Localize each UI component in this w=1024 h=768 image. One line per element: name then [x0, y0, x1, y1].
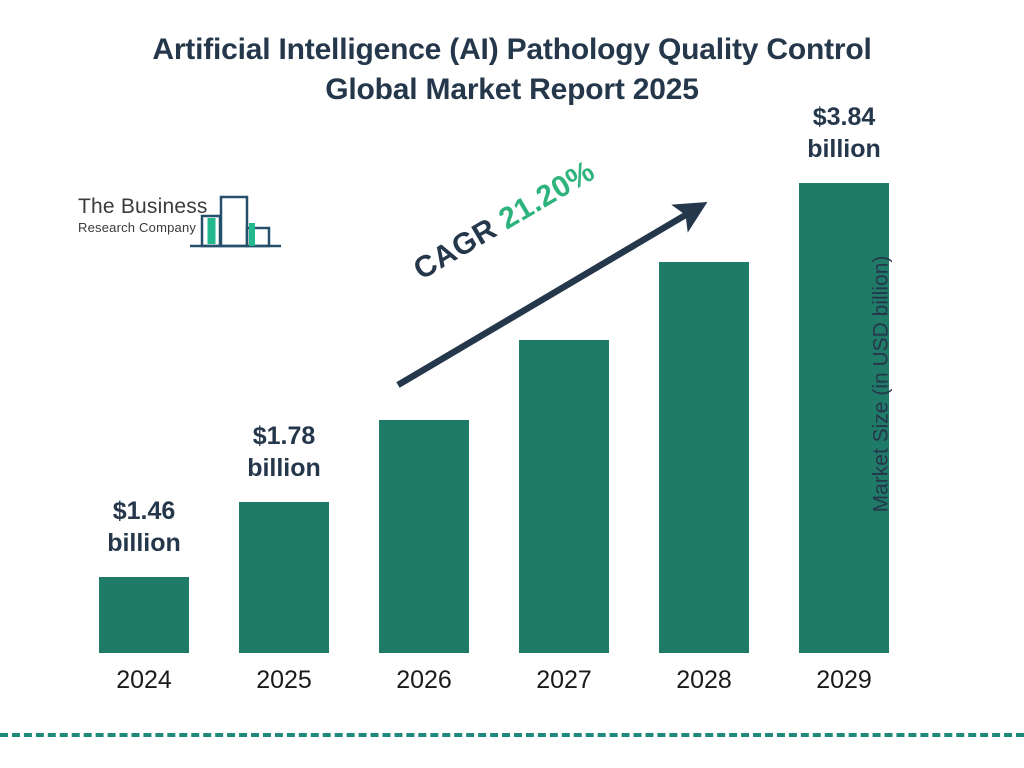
- bar-value-label-2024: $1.46billion: [49, 495, 239, 559]
- y-axis-title: Market Size (in USD billion): [870, 256, 894, 513]
- x-tick-label-2024: 2024: [74, 668, 214, 693]
- x-tick-label-2027: 2027: [494, 668, 634, 693]
- bar-value-label-2025: $1.78billion: [189, 420, 379, 484]
- x-tick-label-2028: 2028: [634, 668, 774, 693]
- bar-2027: [519, 340, 609, 653]
- bar-value-unit-2025: billion: [189, 452, 379, 484]
- x-tick-label-2025: 2025: [214, 668, 354, 693]
- bar-2026: [379, 420, 469, 653]
- x-tick-label-2029: 2029: [774, 668, 914, 693]
- bar-value-amount-2024: $1.46: [49, 495, 239, 527]
- bar-2028: [659, 262, 749, 653]
- footer-divider: [0, 733, 1024, 737]
- chart-canvas: Artificial Intelligence (AI) Pathology Q…: [0, 0, 1024, 768]
- bar-2025: [239, 502, 329, 653]
- bar-2024: [99, 577, 189, 653]
- bar-value-amount-2025: $1.78: [189, 420, 379, 452]
- bar-value-amount-2029: $3.84: [749, 101, 939, 133]
- x-tick-label-2026: 2026: [354, 668, 494, 693]
- bar-value-unit-2029: billion: [749, 133, 939, 165]
- bar-value-unit-2024: billion: [49, 527, 239, 559]
- bar-value-label-2029: $3.84billion: [749, 101, 939, 165]
